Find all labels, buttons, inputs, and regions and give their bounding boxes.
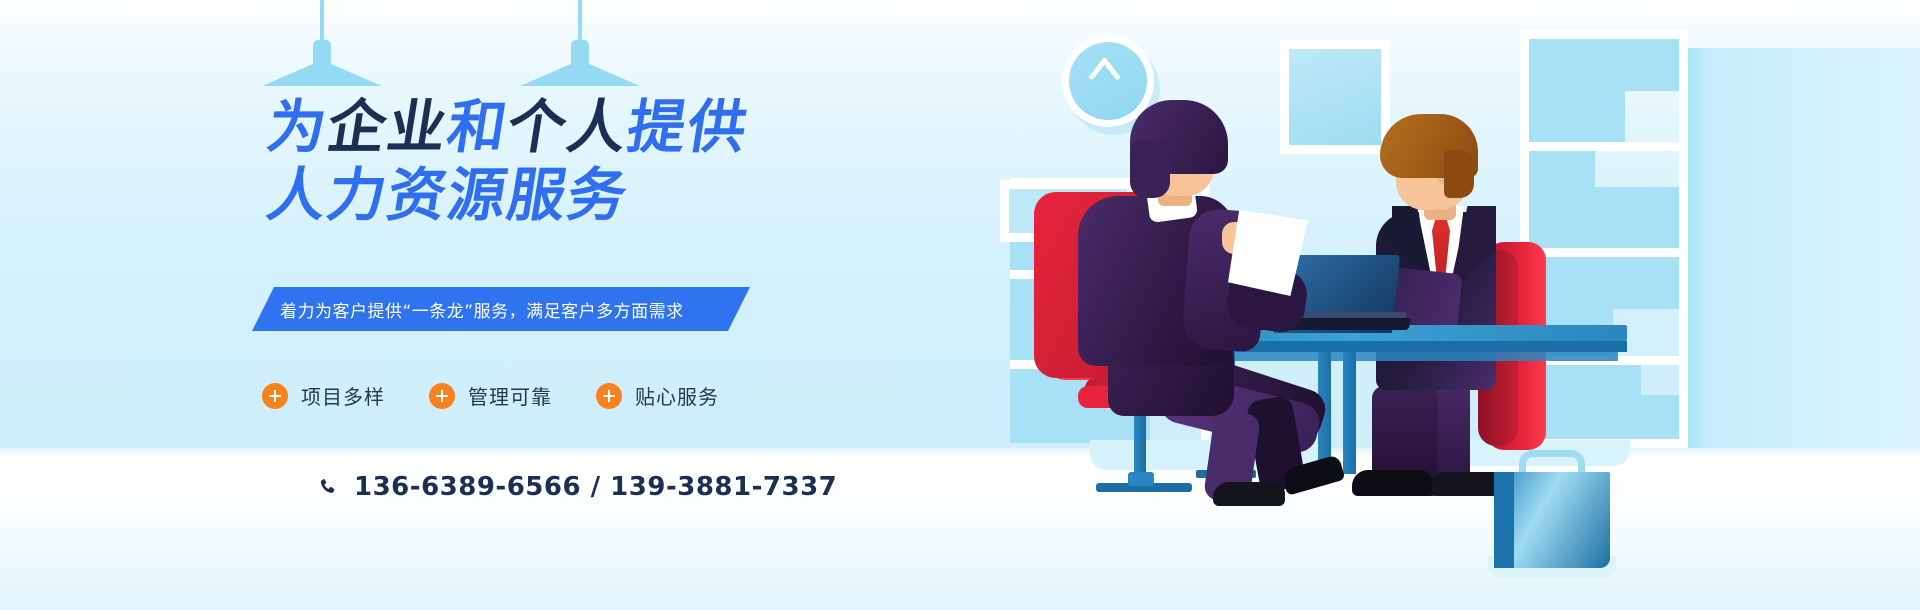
person-left-shoe-front (1213, 482, 1285, 506)
shelf-content (1529, 151, 1595, 187)
feature-label: 管理可靠 (468, 381, 552, 410)
wall-panel-right (1686, 48, 1920, 448)
headline-part-4: 个人 (503, 93, 634, 161)
contact-phone[interactable]: 136-6389-6566 / 139-3881-7337 (316, 472, 837, 502)
wall-panel-right-edge (1686, 48, 1708, 448)
clock-hand-minute (1088, 57, 1108, 81)
headline: 为企业和个人提供 人力资源服务 (268, 96, 908, 226)
feature-label: 贴心服务 (635, 381, 719, 410)
hero-banner: 为企业和个人提供 人力资源服务 着力为客户提供“一条龙”服务，满足客户多方面需求… (0, 0, 1920, 610)
person-right-shoe-front (1352, 470, 1432, 496)
headline-part-3: 和 (443, 93, 514, 161)
phone-icon (316, 476, 338, 498)
headline-line-2: 人力资源服务 (263, 164, 913, 226)
shelf-rail (1520, 30, 1688, 39)
office-chair-left-hub (1128, 472, 1154, 486)
headline-line-1: 为企业和个人提供 (263, 96, 913, 158)
person-left-hair-nape (1130, 140, 1170, 198)
desk-apron (1212, 352, 1618, 361)
desk-edge (1203, 341, 1627, 352)
headline-part-5: 提供 (623, 93, 754, 161)
shelf-content (1529, 395, 1679, 439)
shelf-content (1529, 257, 1679, 309)
shelf-post (1679, 30, 1688, 448)
feature-item-3[interactable]: 贴心服务 (596, 381, 719, 410)
feature-item-1[interactable]: 项目多样 (262, 381, 385, 410)
framed-picture-left (1280, 40, 1390, 154)
shelf-content (1529, 91, 1625, 142)
banner-text-content: 为企业和个人提供 人力资源服务 着力为客户提供“一条龙”服务，满足客户多方面需求… (0, 0, 900, 610)
feature-list: 项目多样 管理可靠 贴心服务 (262, 381, 719, 410)
shelf-content (1529, 187, 1679, 248)
desk-leg-far (1343, 352, 1356, 474)
shelf-rail (1520, 142, 1688, 151)
phone-number: 136-6389-6566 / 139-3881-7337 (354, 472, 837, 502)
headline-part-1: 为 (263, 93, 334, 161)
headline-part-2: 企业 (323, 93, 454, 161)
plus-icon (596, 383, 622, 409)
shelf-content (1529, 39, 1679, 91)
person-right-hair-sideburn (1444, 150, 1474, 198)
plus-icon (262, 383, 288, 409)
plus-icon (429, 383, 455, 409)
feature-item-2[interactable]: 管理可靠 (429, 381, 552, 410)
briefcase-side (1494, 472, 1514, 568)
feature-label: 项目多样 (301, 381, 385, 410)
subtitle-text: 着力为客户提供“一条龙”服务，满足客户多方面需求 (280, 287, 750, 331)
